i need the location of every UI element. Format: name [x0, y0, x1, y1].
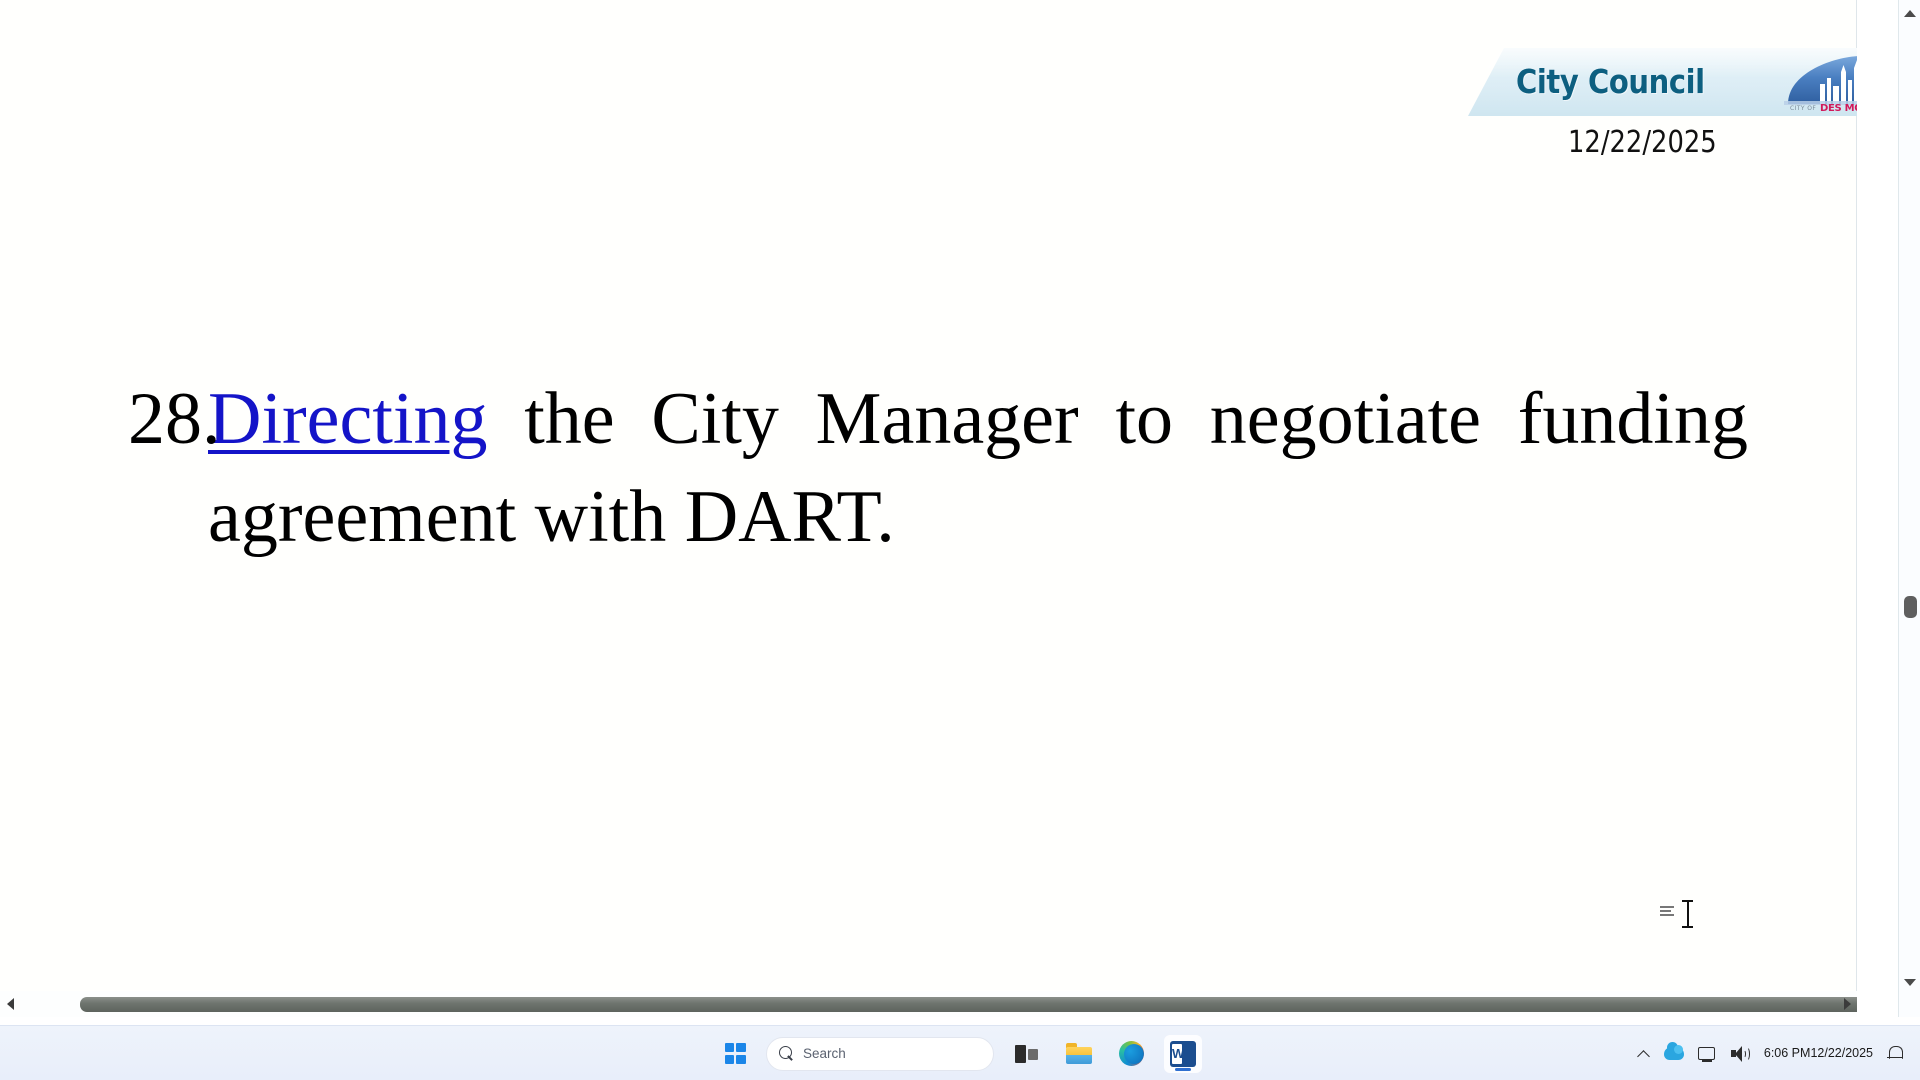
page-margin-guide — [1856, 0, 1857, 1017]
chevron-up-icon — [1904, 10, 1916, 17]
i-beam-cursor-icon — [1682, 900, 1693, 928]
task-view-icon — [1015, 1043, 1039, 1065]
chevron-left-icon — [7, 998, 14, 1010]
search-placeholder: Search — [803, 1046, 846, 1061]
bell-icon — [1887, 1045, 1904, 1063]
windows-taskbar: Search W — [0, 1025, 1920, 1080]
tray-time: 6:06 PM — [1764, 1046, 1811, 1061]
scroll-down-button[interactable] — [1899, 971, 1920, 993]
clock-button[interactable]: 6:06 PM 12/22/2025 — [1764, 1037, 1873, 1071]
taskbar-item-file-explorer[interactable] — [1060, 1035, 1098, 1073]
scroll-left-button[interactable] — [0, 991, 20, 1017]
vertical-scroll-thumb[interactable] — [1904, 596, 1917, 618]
folder-icon — [1066, 1043, 1092, 1064]
taskbar-center-group: Search W — [718, 1026, 1202, 1080]
banner-date: 12/22/2025 — [1568, 125, 1717, 160]
scroll-up-button[interactable] — [1899, 2, 1920, 24]
des-moines-city-logo: CITY OF DES MOINES — [1780, 54, 1857, 112]
banner-title: City Council — [1516, 62, 1705, 101]
agenda-item-paragraph: 28.Directing the City Manager to negotia… — [128, 370, 1748, 566]
search-input[interactable]: Search — [766, 1037, 994, 1071]
svg-text:DES MOINES: DES MOINES — [1820, 103, 1857, 112]
directing-hyperlink[interactable]: Directing — [208, 378, 487, 460]
system-tray: 6:06 PM 12/22/2025 — [1638, 1026, 1910, 1080]
chevron-down-icon — [1904, 979, 1916, 986]
speaker-icon — [1731, 1046, 1750, 1062]
taskbar-item-microsoft-word[interactable]: W — [1164, 1035, 1202, 1073]
taskbar-item-microsoft-edge[interactable] — [1112, 1035, 1150, 1073]
document-page[interactable]: City Council — [0, 0, 1857, 1017]
network-tray-button[interactable] — [1698, 1037, 1717, 1071]
city-council-banner: City Council — [1468, 48, 1857, 116]
cloud-icon — [1664, 1047, 1684, 1060]
onedrive-tray-button[interactable] — [1664, 1037, 1684, 1071]
scroll-right-button[interactable] — [1837, 991, 1857, 1017]
horizontal-scrollbar[interactable] — [0, 991, 1857, 1017]
chevron-up-icon — [1638, 1048, 1650, 1060]
svg-text:CITY OF: CITY OF — [1790, 105, 1816, 112]
windows-logo-icon — [725, 1043, 746, 1064]
taskbar-item-task-view[interactable] — [1008, 1035, 1046, 1073]
edge-icon — [1119, 1041, 1144, 1066]
agenda-item-number: 28. — [128, 370, 208, 468]
word-icon: W — [1170, 1041, 1196, 1067]
document-text-block[interactable]: 28.Directing the City Manager to negotia… — [128, 370, 1748, 566]
vertical-scrollbar[interactable] — [1898, 0, 1920, 1017]
show-hidden-icons-button[interactable] — [1638, 1037, 1650, 1071]
volume-tray-button[interactable] — [1731, 1037, 1750, 1071]
screen: City Council — [0, 0, 1920, 1080]
horizontal-scroll-thumb[interactable] — [80, 997, 1857, 1012]
chevron-right-icon — [1844, 998, 1851, 1010]
network-icon — [1698, 1046, 1717, 1062]
text-cursor-icon — [1660, 900, 1700, 928]
notifications-button[interactable] — [1887, 1037, 1904, 1071]
search-icon — [779, 1046, 794, 1061]
tray-date: 12/22/2025 — [1810, 1046, 1873, 1061]
start-button[interactable] — [718, 1037, 752, 1071]
alignment-marks-icon — [1660, 906, 1676, 918]
